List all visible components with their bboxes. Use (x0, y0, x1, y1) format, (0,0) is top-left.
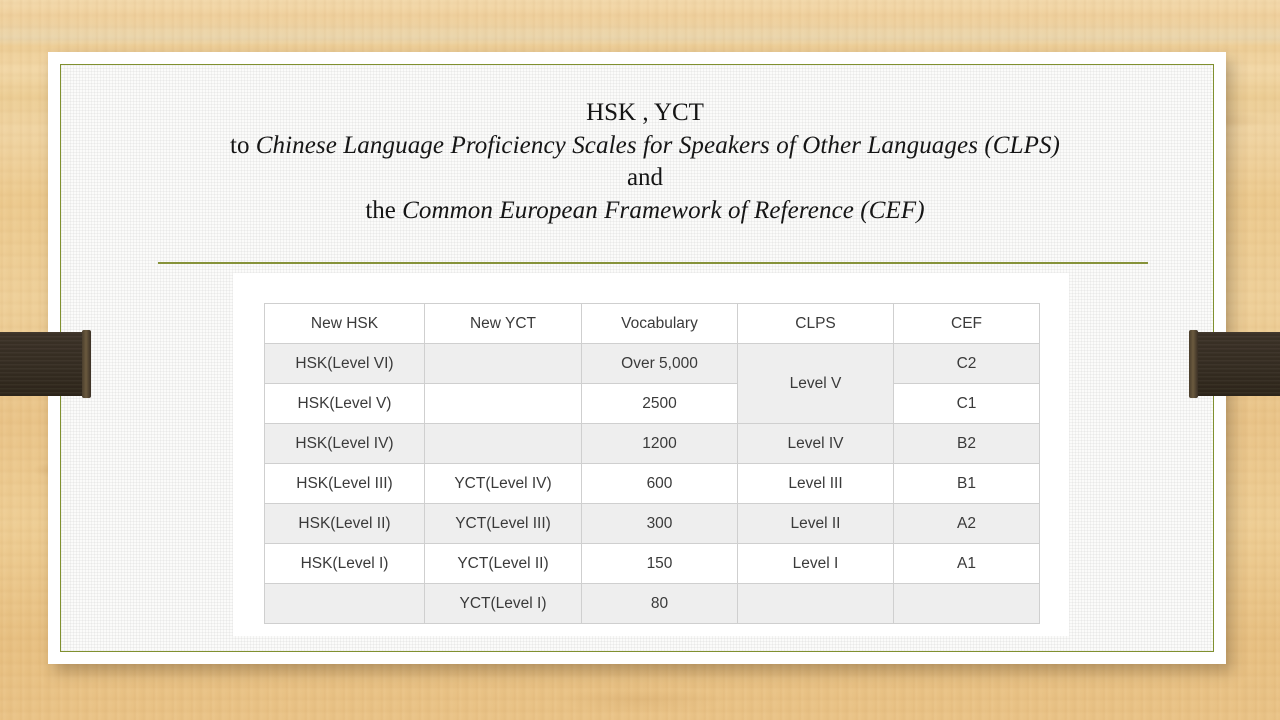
decorative-strap-cap-left (82, 330, 91, 398)
decorative-strap-left (0, 332, 84, 396)
cell-yct (425, 424, 582, 464)
table-row: HSK(Level VI)Over 5,000Level VC2 (265, 344, 1040, 384)
title-line-4-plain: the (365, 197, 402, 224)
cell-vocab: 1200 (582, 424, 738, 464)
cell-cef: C1 (894, 384, 1040, 424)
cell-yct: YCT(Level I) (425, 584, 582, 624)
proficiency-comparison-table: New HSKNew YCTVocabularyCLPSCEF HSK(Leve… (264, 303, 1040, 624)
table-image-panel: New HSKNew YCTVocabularyCLPSCEF HSK(Leve… (233, 273, 1069, 636)
cell-vocab: Over 5,000 (582, 344, 738, 384)
table-row: YCT(Level I)80 (265, 584, 1040, 624)
title-line-1: HSK , YCT (151, 97, 1139, 130)
title-line-4: the Common European Framework of Referen… (151, 195, 1139, 228)
cell-cef: B2 (894, 424, 1040, 464)
page-title: HSK , YCT to Chinese Language Proficienc… (151, 97, 1139, 227)
cell-clps: Level II (738, 504, 894, 544)
column-header-new-yct: New YCT (425, 304, 582, 344)
decorative-strap-cap-right (1189, 330, 1198, 398)
cell-clps: Level V (738, 344, 894, 424)
cell-yct: YCT(Level IV) (425, 464, 582, 504)
cell-hsk: HSK(Level V) (265, 384, 425, 424)
cell-yct: YCT(Level III) (425, 504, 582, 544)
column-header-clps: CLPS (738, 304, 894, 344)
table-row: HSK(Level III)YCT(Level IV)600Level IIIB… (265, 464, 1040, 504)
cell-yct (425, 384, 582, 424)
table-row: HSK(Level I)YCT(Level II)150Level IA1 (265, 544, 1040, 584)
cell-vocab: 150 (582, 544, 738, 584)
cell-hsk: HSK(Level III) (265, 464, 425, 504)
cell-yct: YCT(Level II) (425, 544, 582, 584)
cell-hsk: HSK(Level II) (265, 504, 425, 544)
cell-vocab: 80 (582, 584, 738, 624)
column-header-vocabulary: Vocabulary (582, 304, 738, 344)
cell-hsk (265, 584, 425, 624)
cell-vocab: 300 (582, 504, 738, 544)
column-header-cef: CEF (894, 304, 1040, 344)
table-row: HSK(Level V)2500C1 (265, 384, 1040, 424)
cell-cef: C2 (894, 344, 1040, 384)
cell-cef: A1 (894, 544, 1040, 584)
table-row: HSK(Level II)YCT(Level III)300Level IIA2 (265, 504, 1040, 544)
cell-clps: Level III (738, 464, 894, 504)
slide-inner-border: HSK , YCT to Chinese Language Proficienc… (60, 64, 1214, 652)
table-body: HSK(Level VI)Over 5,000Level VC2HSK(Leve… (265, 344, 1040, 624)
title-line-1-plain: HSK , YCT (586, 99, 704, 126)
cell-yct (425, 344, 582, 384)
table-header-row: New HSKNew YCTVocabularyCLPSCEF (265, 304, 1040, 344)
title-line-2: to Chinese Language Proficiency Scales f… (151, 130, 1139, 163)
cell-cef: B1 (894, 464, 1040, 504)
title-line-2-plain: to (230, 132, 256, 159)
cell-vocab: 600 (582, 464, 738, 504)
title-line-2-italic: Chinese Language Proficiency Scales for … (256, 132, 1060, 159)
decorative-strap-right (1196, 332, 1280, 396)
title-divider (158, 262, 1148, 264)
cell-hsk: HSK(Level IV) (265, 424, 425, 464)
title-line-3-plain: and (627, 164, 663, 191)
slide-card: HSK , YCT to Chinese Language Proficienc… (48, 52, 1226, 664)
cell-cef (894, 584, 1040, 624)
table-header: New HSKNew YCTVocabularyCLPSCEF (265, 304, 1040, 344)
cell-clps (738, 584, 894, 624)
cell-clps: Level I (738, 544, 894, 584)
cell-clps: Level IV (738, 424, 894, 464)
cell-vocab: 2500 (582, 384, 738, 424)
cell-hsk: HSK(Level I) (265, 544, 425, 584)
title-line-3: and (151, 162, 1139, 195)
cell-hsk: HSK(Level VI) (265, 344, 425, 384)
cell-cef: A2 (894, 504, 1040, 544)
column-header-new-hsk: New HSK (265, 304, 425, 344)
title-line-4-italic: Common European Framework of Reference (… (402, 197, 925, 224)
table-row: HSK(Level IV)1200Level IVB2 (265, 424, 1040, 464)
